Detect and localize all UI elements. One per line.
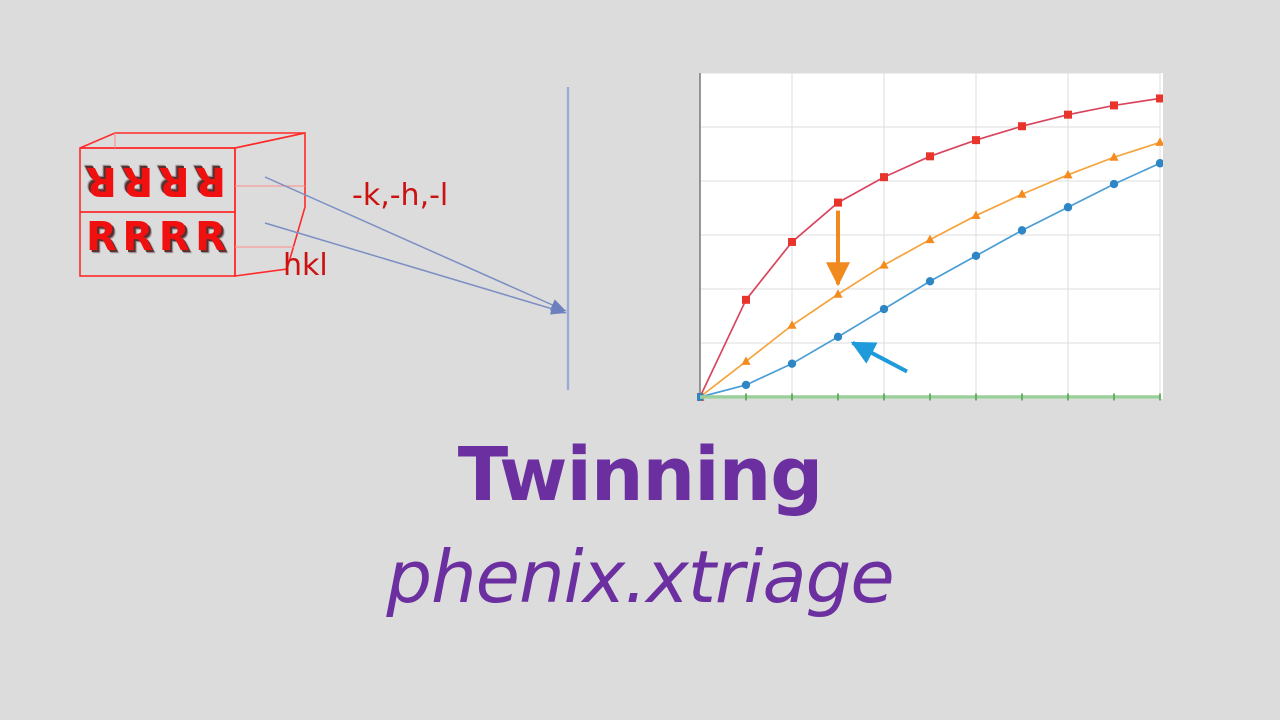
letter-glyph: R — [195, 161, 226, 201]
intensity-statistics-chart — [697, 71, 1163, 401]
chart-series-green-baseline — [700, 394, 1160, 401]
data-point-circle — [742, 381, 750, 389]
twinning-diagram: R R R R R R R R -k,-h,-l hkl — [0, 0, 620, 420]
data-point-square — [1064, 111, 1072, 119]
original-index-label: hkl — [283, 248, 328, 283]
diagram-vector-layer — [0, 0, 620, 420]
data-point-square — [834, 199, 842, 207]
cell-letters-original-layer: R R R R — [86, 214, 226, 260]
letter-glyph: R — [159, 217, 190, 257]
letter-glyph: R — [122, 161, 153, 201]
data-point-circle — [972, 252, 980, 260]
letter-glyph: R — [86, 217, 117, 257]
chart-series-orange-triangles — [697, 137, 1163, 400]
letter-glyph: R — [122, 217, 153, 257]
data-point-circle — [880, 305, 888, 313]
data-point-triangle — [1155, 137, 1163, 146]
chart-series-blue-circles — [697, 159, 1163, 401]
data-point-square — [1018, 122, 1026, 130]
data-point-triangle — [833, 289, 842, 298]
data-point-circle — [1018, 226, 1026, 234]
chart-vector-layer — [697, 71, 1163, 401]
data-point-circle — [1064, 203, 1072, 211]
data-point-square — [972, 136, 980, 144]
data-point-triangle — [787, 320, 796, 329]
data-point-circle — [1156, 159, 1163, 167]
data-point-square — [926, 152, 934, 160]
data-point-square — [1156, 94, 1163, 102]
data-point-square — [1110, 101, 1118, 109]
page-subtitle: phenix.xtriage — [0, 535, 1280, 619]
data-point-square — [880, 173, 888, 181]
data-point-square — [742, 296, 750, 304]
data-point-square — [788, 238, 796, 246]
letter-glyph: R — [159, 161, 190, 201]
data-point-triangle — [741, 356, 750, 365]
slide-canvas: R R R R R R R R -k,-h,-l hkl Twinning ph… — [0, 0, 1280, 720]
annotation-blue-pointer-arrow — [853, 343, 907, 372]
series-line — [700, 98, 1160, 397]
letter-glyph: R — [86, 161, 117, 201]
page-title: Twinning — [0, 432, 1280, 518]
cell-letters-twin-layer: R R R R — [86, 158, 226, 204]
letter-glyph: R — [195, 217, 226, 257]
data-point-circle — [1110, 180, 1118, 188]
data-point-circle — [926, 277, 934, 285]
twin-operator-label: -k,-h,-l — [352, 178, 448, 213]
data-point-circle — [834, 333, 842, 341]
data-point-circle — [788, 359, 796, 367]
chart-series-red-squares — [697, 94, 1163, 401]
data-point-triangle — [879, 260, 888, 269]
